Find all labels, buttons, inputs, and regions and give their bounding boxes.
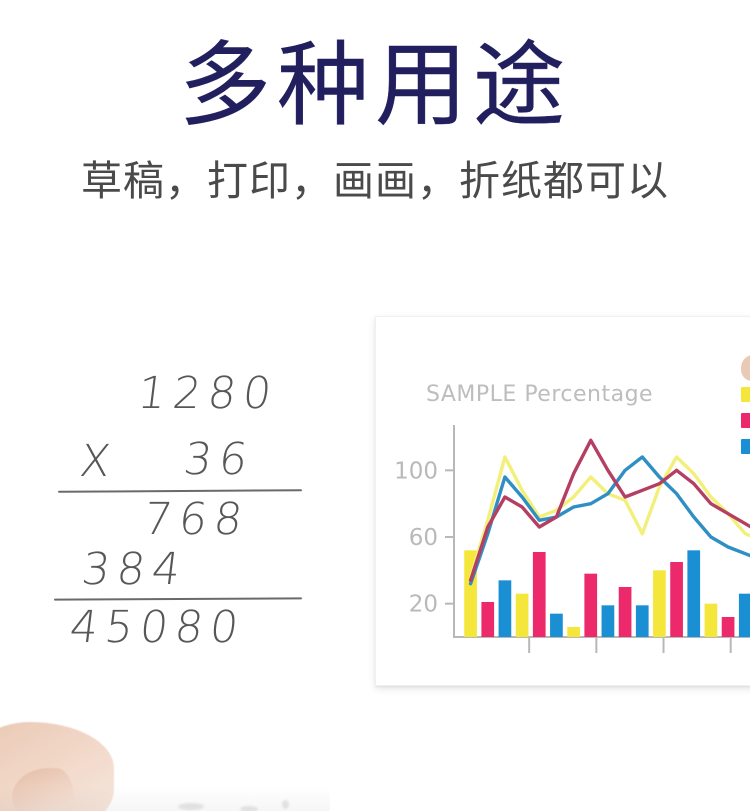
page-subheadline: 草稿，打印，画画，折纸都可以: [0, 157, 750, 206]
legend-swatch: [741, 355, 750, 381]
handwritten-multiplication: 1280 X 36 768 384 45080: [44, 366, 344, 641]
math-multiplicand: 1280: [135, 368, 281, 419]
faint-mark: [178, 803, 204, 810]
legend-swatch: [741, 439, 750, 454]
math-partial-product-2: 384: [79, 544, 190, 595]
faint-mark: [240, 806, 258, 811]
math-rule-lower: [54, 597, 302, 600]
product-detail-page: 多种用途 草稿，打印，画画，折纸都可以 1280 X 36 768 384 45…: [0, 0, 750, 811]
math-multiplier: 36: [181, 434, 257, 485]
legend-swatch: [741, 413, 750, 428]
faint-mark: [282, 800, 289, 809]
math-rule-upper: [58, 489, 302, 492]
legend-swatch: [741, 387, 750, 402]
printed-chart-sheet: SAMPLE Percentage 2060100: [375, 316, 750, 686]
page-headline: 多种用途: [0, 36, 750, 135]
math-operator: X: [77, 436, 116, 487]
math-total: 45080: [67, 602, 248, 653]
math-partial-product-1: 768: [141, 494, 252, 545]
sample-percentage-chart: 2060100: [376, 317, 750, 685]
paper-edge-shadow: [0, 786, 330, 811]
svg-text:60: 60: [409, 525, 438, 551]
svg-text:20: 20: [409, 592, 438, 618]
chart-legend: [741, 355, 750, 465]
svg-text:100: 100: [394, 458, 438, 484]
